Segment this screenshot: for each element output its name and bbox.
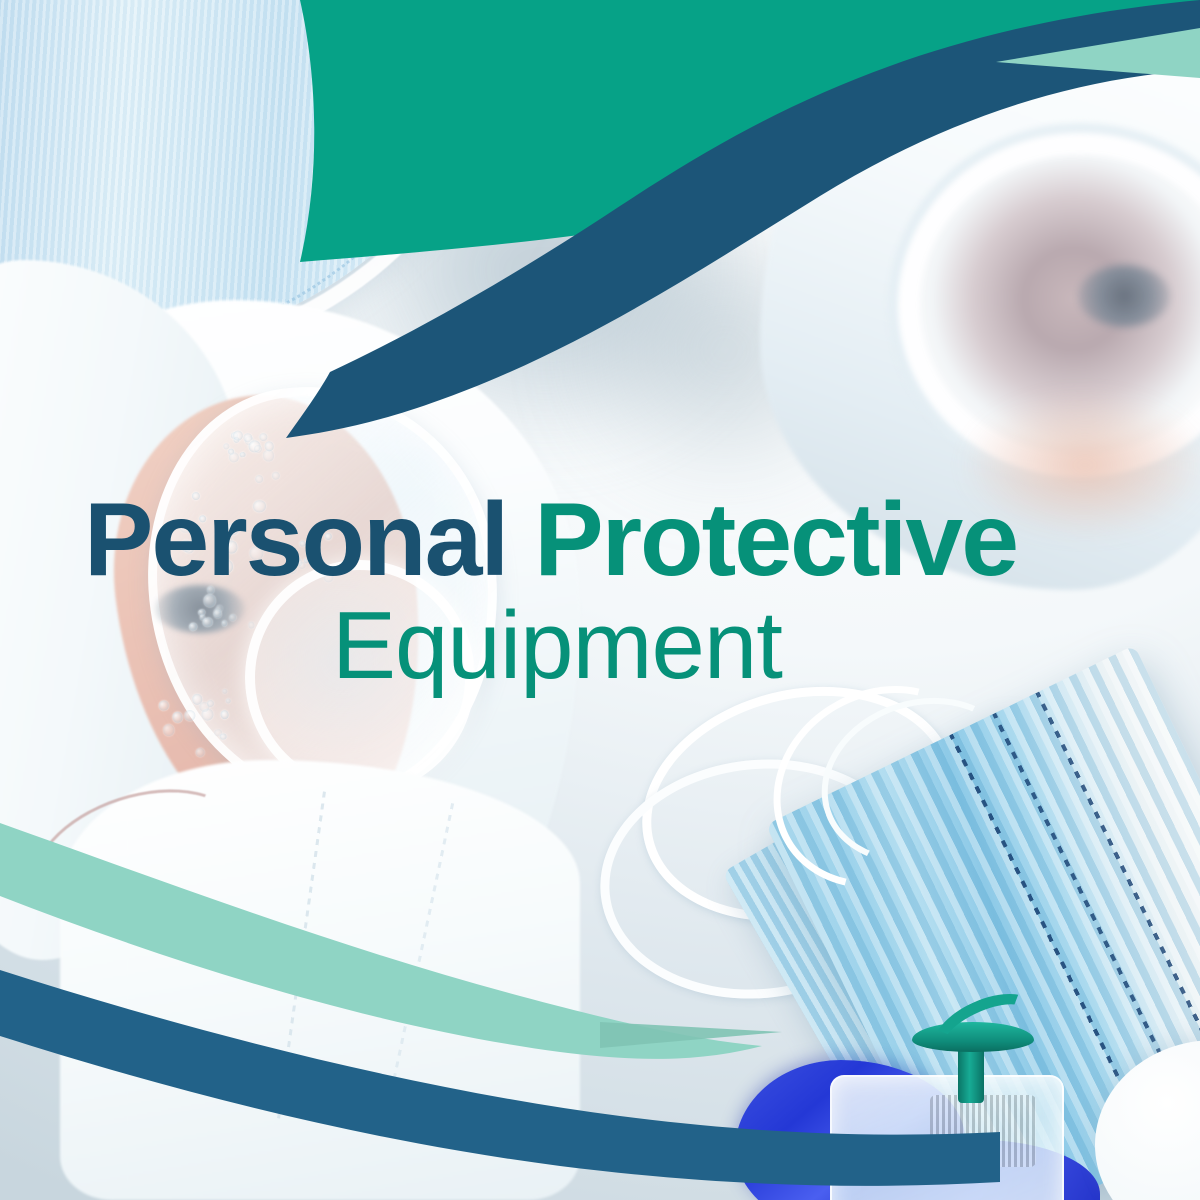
ppe-banner: Personal Protective Equipment: [0, 0, 1200, 1200]
title-line-2: Equipment: [0, 598, 1200, 694]
worker-right-eye: [1078, 265, 1170, 327]
title-word-personal: Personal: [84, 482, 507, 598]
sanitizer-pump-collar: [930, 1095, 1036, 1167]
title-line-1: Personal Protective: [0, 488, 1200, 592]
title-word-protective: Protective: [534, 482, 1017, 598]
page-title: Personal Protective Equipment: [0, 488, 1200, 694]
